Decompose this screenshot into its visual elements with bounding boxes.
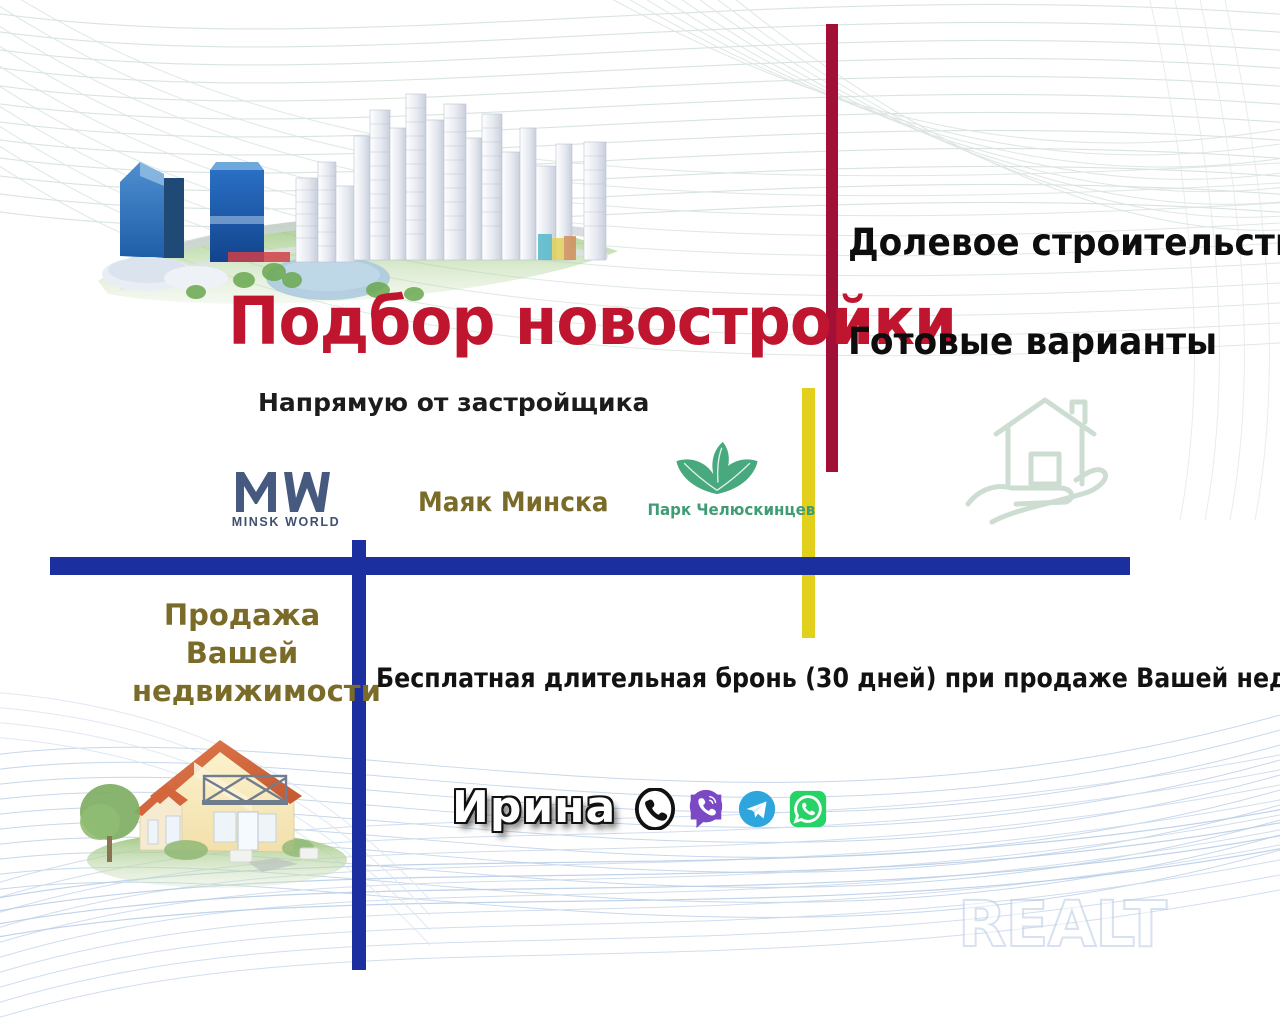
realt-watermark: REALT xyxy=(958,888,1166,961)
vertical-rule-crimson xyxy=(826,24,838,472)
advertisement-poster: Подбор новостройки Напрямую от застройщи… xyxy=(0,0,1280,1024)
city-skyline-render xyxy=(78,66,638,316)
cottage-house-photo xyxy=(62,700,362,890)
leaf-icon xyxy=(643,440,791,500)
developer-logo-park-chelyuskintsev: Парк Челюскинцев xyxy=(643,440,791,519)
developer-logo-label: Парк Челюскинцев xyxy=(647,500,786,519)
contact-icons xyxy=(634,788,829,830)
developer-logo-label: MINSK WORLD xyxy=(226,515,346,529)
vertical-rule-blue xyxy=(352,540,366,970)
phone-icon[interactable] xyxy=(634,788,676,830)
house-in-hand-icon xyxy=(952,392,1138,540)
developer-logo-mayak-minska: Маяк Минска xyxy=(418,487,609,518)
promo-free-reservation: Бесплатная длительная бронь (30 дней) пр… xyxy=(376,663,1280,694)
horizontal-rule-blue xyxy=(50,557,1130,575)
offer-line-ready-options: Готовые варианты xyxy=(848,320,1217,363)
offer-line-shared-construction: Долевое строительство xyxy=(848,221,1280,264)
viber-icon[interactable] xyxy=(685,788,727,830)
telegram-icon[interactable] xyxy=(736,788,778,830)
developer-logo-minsk-world: MINSK WORLD xyxy=(226,468,346,540)
page-title: Подбор новостройки xyxy=(228,288,956,356)
sell-your-property-heading: Продажа Вашей недвижимости xyxy=(132,596,352,710)
mw-monogram-icon xyxy=(226,468,336,514)
subtitle: Напрямую от застройщика xyxy=(258,388,649,417)
agent-name: Ирина xyxy=(452,782,616,833)
whatsapp-icon[interactable] xyxy=(787,788,829,830)
